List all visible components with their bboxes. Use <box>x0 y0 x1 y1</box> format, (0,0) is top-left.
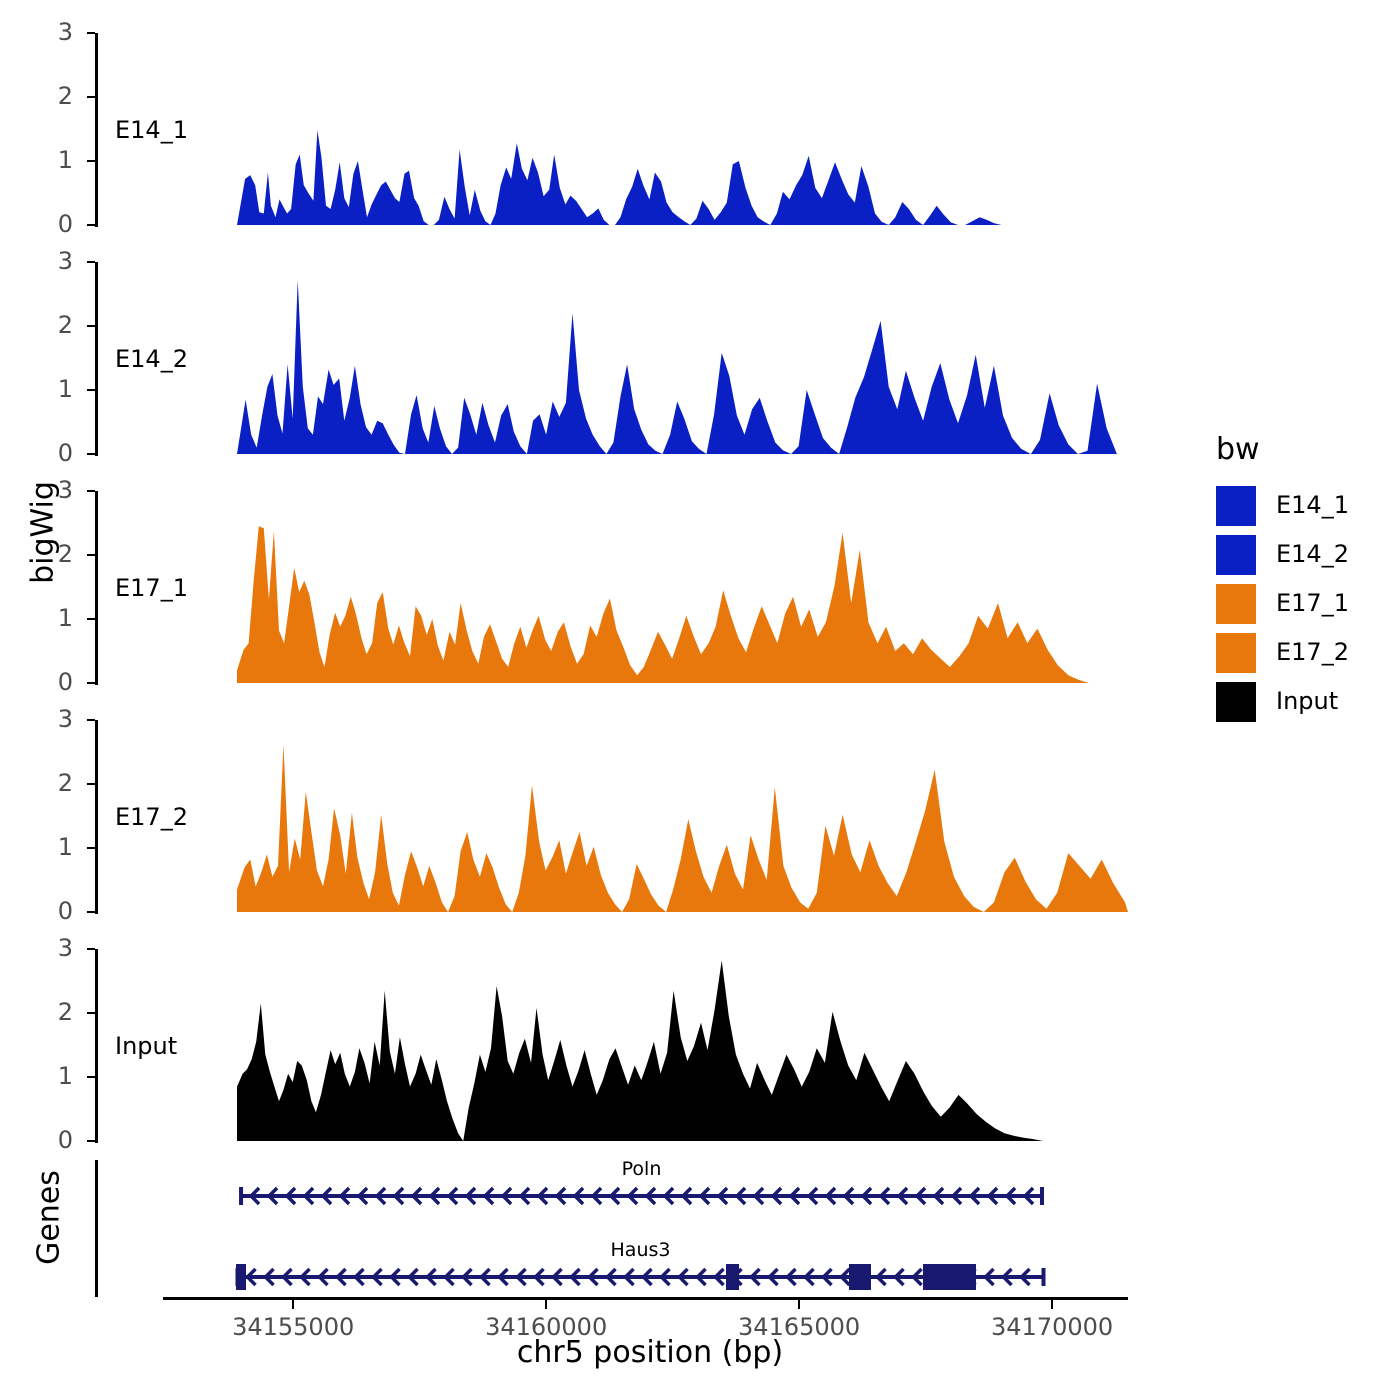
y-tick-mark <box>87 325 95 327</box>
legend-label: E17_1 <box>1276 589 1349 617</box>
exon-block <box>726 1264 739 1290</box>
y-tick-mark <box>87 847 95 849</box>
y-tick-label: 2 <box>33 82 73 110</box>
y-tick-label: 1 <box>33 604 73 632</box>
y-tick-label: 0 <box>33 668 73 696</box>
legend-item-e14_1[interactable]: E14_1 <box>1216 484 1386 528</box>
y-tick-label: 0 <box>33 210 73 238</box>
legend-swatch <box>1216 584 1256 624</box>
y-tick-mark <box>87 719 95 721</box>
legend-swatch <box>1216 535 1256 575</box>
legend-label: E14_1 <box>1276 491 1349 519</box>
y-tick-label: 3 <box>33 705 73 733</box>
y-tick-label: 1 <box>33 375 73 403</box>
x-tick-mark <box>798 1300 800 1309</box>
legend-item-e17_2[interactable]: E17_2 <box>1216 631 1386 675</box>
y-tick-mark <box>87 261 95 263</box>
y-tick-mark <box>87 1076 95 1078</box>
y-tick-mark <box>87 1012 95 1014</box>
x-tick-mark <box>545 1300 547 1309</box>
y-tick-label: 3 <box>33 476 73 504</box>
y-tick-label: 3 <box>33 18 73 46</box>
y-tick-mark <box>87 160 95 162</box>
x-tick-label: 34165000 <box>699 1313 899 1341</box>
y-tick-label: 0 <box>33 897 73 925</box>
y-tick-mark <box>87 682 95 684</box>
y-tick-mark <box>87 618 95 620</box>
y-tick-mark <box>87 389 95 391</box>
coverage-polygon <box>237 744 1128 912</box>
coverage-area-e17_1 <box>95 491 1128 687</box>
coverage-area-e14_1 <box>95 33 1128 229</box>
x-tick-label: 34170000 <box>952 1313 1152 1341</box>
exon-block <box>236 1264 246 1290</box>
genome-browser-figure: bigWig Genes chr5 position (bp) 0123E14_… <box>0 0 1400 1400</box>
legend-label: E14_2 <box>1276 540 1349 568</box>
x-tick-mark <box>1051 1300 1053 1309</box>
coverage-polygon <box>237 280 1127 454</box>
y-tick-mark <box>87 453 95 455</box>
y-tick-mark <box>87 224 95 226</box>
legend-label: E17_2 <box>1276 638 1349 666</box>
exon-block <box>849 1264 871 1290</box>
coverage-polygon <box>237 961 1128 1142</box>
x-tick-label: 34160000 <box>446 1313 646 1341</box>
y-tick-label: 1 <box>33 146 73 174</box>
coverage-area-e17_2 <box>95 720 1128 916</box>
legend-item-e14_2[interactable]: E14_2 <box>1216 533 1386 577</box>
coverage-area-e14_2 <box>95 262 1128 458</box>
y-tick-label: 0 <box>33 1126 73 1154</box>
x-tick-mark <box>292 1300 294 1309</box>
legend-item-input[interactable]: Input <box>1216 680 1386 724</box>
gene-label-poln: Poln <box>542 1158 742 1180</box>
y-tick-label: 3 <box>33 247 73 275</box>
legend-item-e17_1[interactable]: E17_1 <box>1216 582 1386 626</box>
legend-swatch <box>1216 633 1256 673</box>
y-tick-mark <box>87 1140 95 1142</box>
coverage-polygon <box>237 526 1128 683</box>
legend-swatch <box>1216 486 1256 526</box>
y-tick-mark <box>87 783 95 785</box>
legend-swatch <box>1216 682 1256 722</box>
y-tick-mark <box>87 32 95 34</box>
y-tick-label: 1 <box>33 1062 73 1090</box>
y-tick-mark <box>87 948 95 950</box>
y-tick-label: 1 <box>33 833 73 861</box>
y-tick-label: 3 <box>33 934 73 962</box>
y-tick-label: 2 <box>33 998 73 1026</box>
x-tick-label: 34155000 <box>193 1313 393 1341</box>
y-tick-label: 2 <box>33 769 73 797</box>
y-tick-mark <box>87 96 95 98</box>
y-tick-mark <box>87 554 95 556</box>
gene-label-haus3: Haus3 <box>541 1239 741 1261</box>
y-tick-mark <box>87 490 95 492</box>
legend-title: bw <box>1216 432 1260 467</box>
gene-models <box>0 1160 1400 1310</box>
y-tick-label: 2 <box>33 540 73 568</box>
y-tick-label: 0 <box>33 439 73 467</box>
y-tick-mark <box>87 911 95 913</box>
exon-block <box>923 1264 976 1290</box>
y-tick-label: 2 <box>33 311 73 339</box>
legend-label: Input <box>1276 687 1338 715</box>
coverage-area-input <box>95 949 1128 1145</box>
x-axis-line <box>163 1297 1128 1300</box>
coverage-polygon <box>237 130 1061 225</box>
